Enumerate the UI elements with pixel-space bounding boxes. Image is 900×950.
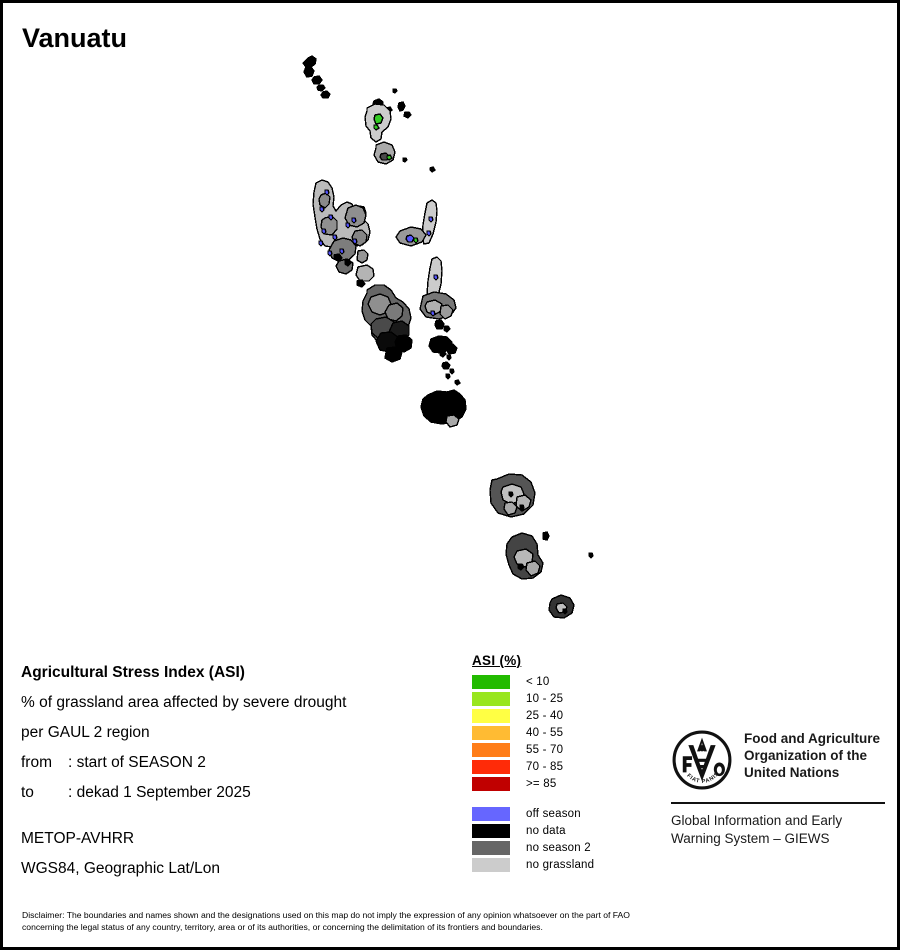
legend-label: >= 85 <box>526 778 556 790</box>
info-block: Agricultural Stress Index (ASI) % of gra… <box>21 658 346 884</box>
info-sensor: METOP-AVHRR <box>21 824 346 854</box>
island-torres-islands <box>303 56 330 98</box>
legend-swatch <box>472 777 510 791</box>
legend-label: off season <box>526 808 581 820</box>
legend-swatch <box>472 743 510 757</box>
island-aniwa <box>543 532 549 540</box>
legend-label: < 10 <box>526 676 550 688</box>
fao-top-row: FIAT PANIS Food and Agriculture Organiza… <box>671 729 886 791</box>
island-ambrym <box>420 292 456 319</box>
legend-label: 55 - 70 <box>526 744 563 756</box>
fao-name-line-3: United Nations <box>744 764 880 781</box>
legend-swatch <box>472 841 510 855</box>
info-from-value: : start of SEASON 2 <box>68 754 206 771</box>
island-shepherd-islands <box>442 362 460 385</box>
island-malekula <box>362 285 412 362</box>
legend-item[interactable]: 55 - 70 <box>472 741 594 758</box>
giews-name: Global Information and Early Warning Sys… <box>671 812 886 848</box>
legend-item-status[interactable]: no season 2 <box>472 839 594 856</box>
legend-status-group: off season no data no season 2 no grassl… <box>472 805 594 873</box>
info-spacer <box>21 808 346 824</box>
legend-item-status[interactable]: no data <box>472 822 594 839</box>
legend-gap <box>472 792 594 805</box>
legend: ASI (%) < 10 10 - 25 25 - 40 40 - 55 55 … <box>472 653 594 873</box>
legend-label: no data <box>526 825 566 837</box>
giews-line-1: Global Information and Early <box>671 812 886 830</box>
island-espiritu-santo <box>313 180 374 281</box>
island-ambae <box>396 227 426 246</box>
legend-swatch <box>472 692 510 706</box>
legend-item[interactable]: 70 - 85 <box>472 758 594 775</box>
island-erromango <box>490 474 535 517</box>
legend-item[interactable]: < 10 <box>472 673 594 690</box>
fao-name: Food and Agriculture Organization of the… <box>744 729 880 781</box>
island-shapes <box>303 56 593 618</box>
legend-item-status[interactable]: off season <box>472 805 594 822</box>
legend-item[interactable]: 25 - 40 <box>472 707 594 724</box>
legend-item[interactable]: >= 85 <box>472 775 594 792</box>
info-from-row: from: start of SEASON 2 <box>21 748 346 778</box>
legend-swatch <box>472 709 510 723</box>
disclaimer: Disclaimer: The boundaries and names sho… <box>22 909 877 933</box>
fao-name-line-2: Organization of the <box>744 747 880 764</box>
legend-swatch <box>472 858 510 872</box>
legend-title: ASI (%) <box>472 653 594 668</box>
info-from-label: from <box>21 748 68 778</box>
giews-line-2: Warning System – GIEWS <box>671 830 886 848</box>
legend-swatch <box>472 726 510 740</box>
legend-label: no season 2 <box>526 842 591 854</box>
info-line-2: % of grassland area affected by severe d… <box>21 688 346 718</box>
legend-label: no grassland <box>526 859 594 871</box>
disclaimer-line-1: Disclaimer: The boundaries and names sho… <box>22 909 877 921</box>
info-to-row: to: dekad 1 September 2025 <box>21 778 346 808</box>
legend-label: 70 - 85 <box>526 761 563 773</box>
info-to-value: : dekad 1 September 2025 <box>68 784 251 801</box>
info-to-label: to <box>21 778 68 808</box>
disclaimer-line-2: concerning the legal status of any count… <box>22 921 877 933</box>
legend-swatch <box>472 675 510 689</box>
island-paama <box>435 320 444 329</box>
island-merig <box>430 167 435 172</box>
legend-swatch <box>472 760 510 774</box>
island-vanua-lava <box>365 104 391 142</box>
island-aneityum <box>549 595 574 618</box>
legend-item-status[interactable]: no grassland <box>472 856 594 873</box>
legend-label: 25 - 40 <box>526 710 563 722</box>
map-poster: Vanuatu <box>0 0 900 950</box>
info-projection: WGS84, Geographic Lat/Lon <box>21 854 346 884</box>
fao-divider <box>671 802 885 804</box>
legend-item[interactable]: 10 - 25 <box>472 690 594 707</box>
island-gaua <box>374 142 395 164</box>
legend-swatch <box>472 824 510 838</box>
island-tanna <box>506 533 543 579</box>
legend-swatch <box>472 807 510 821</box>
info-heading: Agricultural Stress Index (ASI) <box>21 658 346 688</box>
fao-name-line-1: Food and Agriculture <box>744 730 880 747</box>
map-canvas[interactable] <box>3 3 897 643</box>
island-dot-north <box>393 89 397 93</box>
legend-item[interactable]: 40 - 55 <box>472 724 594 741</box>
legend-label: 40 - 55 <box>526 727 563 739</box>
island-futuna <box>589 553 593 558</box>
info-line-3: per GAUL 2 region <box>21 718 346 748</box>
legend-label: 10 - 25 <box>526 693 563 705</box>
island-mere-lava <box>403 158 407 162</box>
fao-logo-icon: FIAT PANIS <box>671 729 733 791</box>
island-lopevi <box>444 326 450 332</box>
legend-class-group: < 10 10 - 25 25 - 40 40 - 55 55 - 70 70 … <box>472 673 594 792</box>
island-efate <box>421 390 466 427</box>
fao-branding: FIAT PANIS Food and Agriculture Organiza… <box>671 729 886 848</box>
